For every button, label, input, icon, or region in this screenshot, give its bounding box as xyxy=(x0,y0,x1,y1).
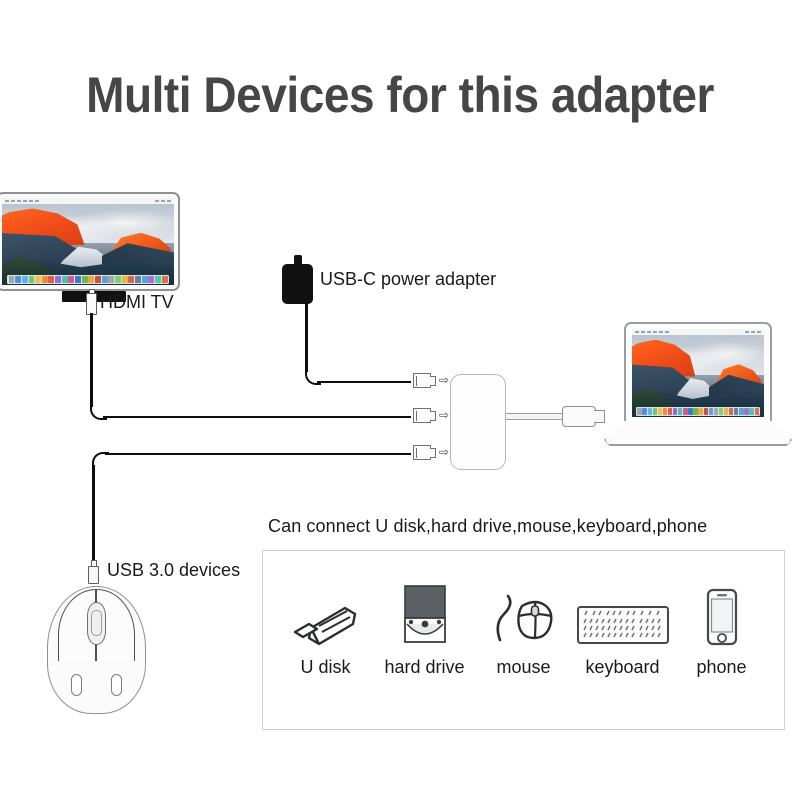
device-label: phone xyxy=(696,657,746,678)
device-item-keyboard: keyboard xyxy=(575,580,671,678)
tv-wallpaper xyxy=(2,198,174,285)
laptop-dock xyxy=(636,407,760,416)
usb-mouse-illustration xyxy=(47,586,146,714)
connector-tip xyxy=(430,411,436,421)
usb-c-host-cable xyxy=(506,413,564,420)
mouse-side-button-right xyxy=(111,674,122,696)
cable-usb3-vertical xyxy=(92,465,95,563)
hdmi-connector-body xyxy=(86,293,97,315)
device-label: mouse xyxy=(496,657,550,678)
hdmi-tv-device xyxy=(0,192,180,291)
connector-notch xyxy=(416,411,420,421)
infographic-canvas: Multi Devices for this adapter HDMI TV xyxy=(0,0,800,800)
cable-power-horizontal xyxy=(317,381,411,384)
tv-screen xyxy=(2,198,174,285)
connector-tip xyxy=(430,376,436,386)
cable-power-vertical xyxy=(305,302,308,372)
hard-drive-icon xyxy=(399,580,451,646)
device-label: hard drive xyxy=(384,657,464,678)
cable-usb3-horizontal xyxy=(105,453,411,456)
cable-hdmi-horizontal xyxy=(103,416,411,419)
laptop-menu-bar xyxy=(632,329,764,335)
device-item-mouse: mouse xyxy=(476,580,572,678)
connector-usb3-port: ⇨ xyxy=(409,444,439,461)
mouse-scroll-wheel xyxy=(87,602,106,645)
usb-c-connector-tip xyxy=(594,410,605,423)
compatible-devices-row: U disk hard drive xyxy=(262,578,785,678)
connector-tip xyxy=(430,448,436,458)
device-label: keyboard xyxy=(585,657,659,678)
connector-notch xyxy=(416,376,420,386)
laptop-wallpaper xyxy=(632,329,764,417)
usb-c-host-connector xyxy=(562,406,606,427)
device-label: U disk xyxy=(300,657,350,678)
device-item-u-disk: U disk xyxy=(278,580,374,678)
mouse-icon xyxy=(492,580,556,646)
tv-menu-bar xyxy=(2,198,174,204)
power-adapter-label: USB-C power adapter xyxy=(320,269,496,290)
cable-hdmi-vertical xyxy=(90,313,93,407)
device-item-phone: phone xyxy=(674,580,770,678)
usb-c-power-adapter-icon xyxy=(282,264,313,304)
laptop-screen xyxy=(632,329,764,417)
usb-c-hub-adapter xyxy=(450,374,506,470)
usb-3-connector xyxy=(88,560,99,584)
connector-hdmi-port: ⇨ xyxy=(409,407,439,424)
tv-dock xyxy=(7,275,169,284)
usb-c-connector-shell xyxy=(562,406,596,427)
usb-flash-drive-icon xyxy=(289,580,363,646)
hdmi-tv-label: HDMI TV xyxy=(100,292,174,313)
hdmi-connector xyxy=(86,289,97,315)
page-title: Multi Devices for this adapter xyxy=(32,66,768,124)
phone-icon xyxy=(705,580,739,646)
laptop-base xyxy=(604,421,792,446)
laptop-device xyxy=(624,322,772,423)
keyboard-icon xyxy=(576,580,670,646)
can-connect-caption: Can connect U disk,hard drive,mouse,keyb… xyxy=(268,516,707,537)
usb3-devices-label: USB 3.0 devices xyxy=(107,560,240,581)
usb-connector-body xyxy=(88,566,99,584)
connector-notch xyxy=(416,448,420,458)
connector-power-port: ⇨ xyxy=(409,372,439,389)
mouse-side-button-left xyxy=(71,674,82,696)
device-item-hard-drive: hard drive xyxy=(377,580,473,678)
